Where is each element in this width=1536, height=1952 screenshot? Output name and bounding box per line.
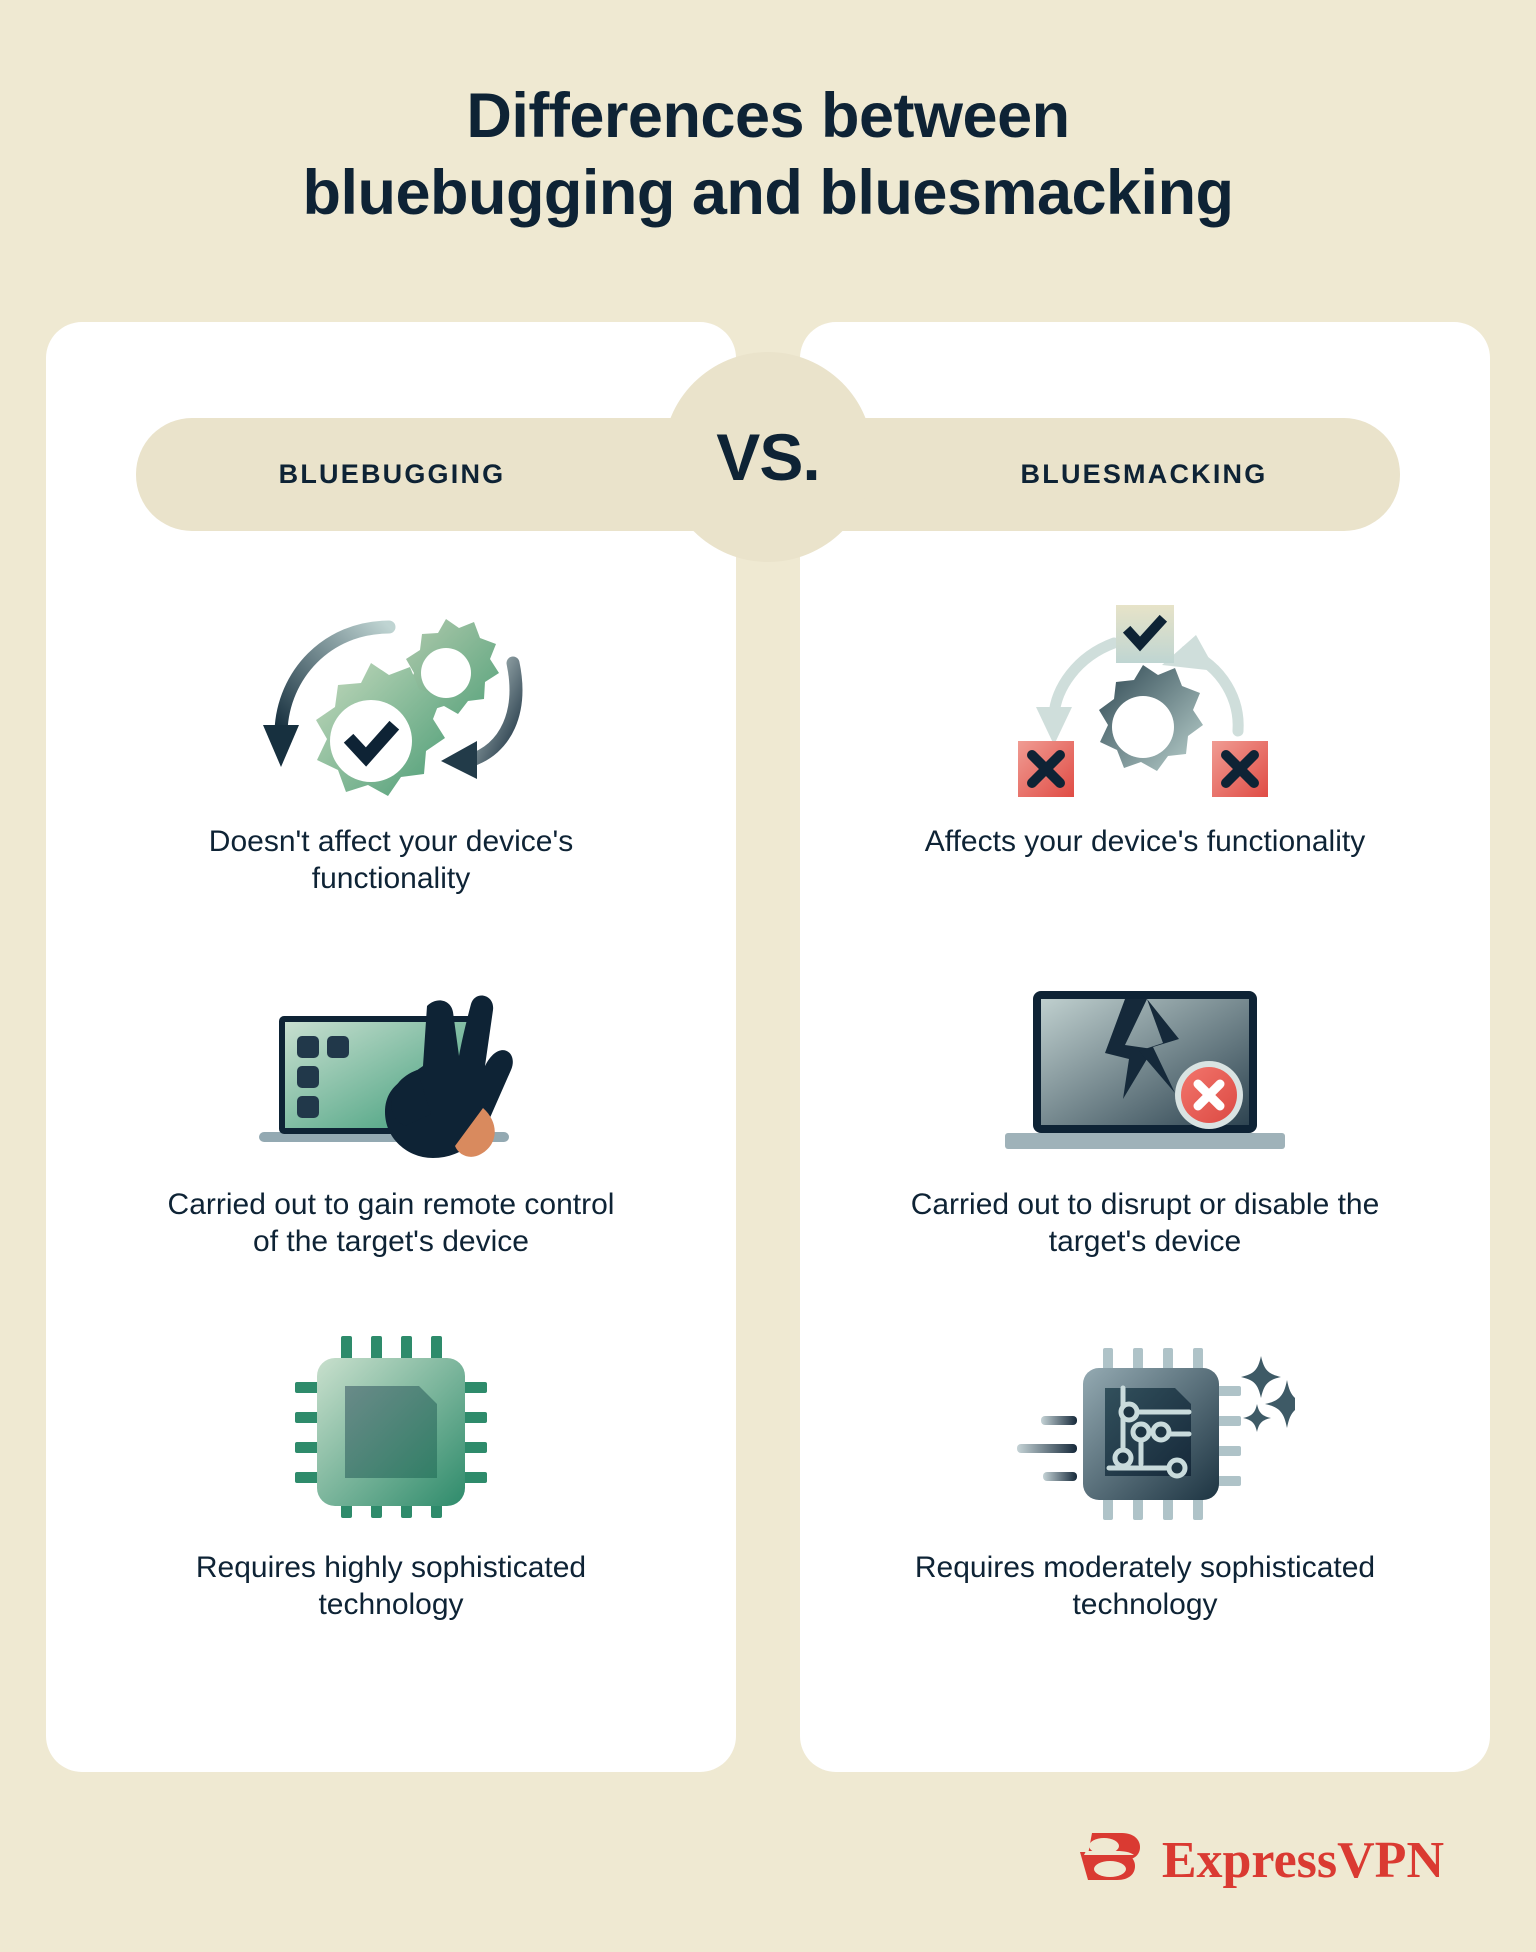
feature-caption: Requires moderately sophisticated techno… [910,1550,1380,1623]
feature-row: Carried out to disrupt or disable the ta… [800,945,1490,1308]
feature-caption: Requires highly sophisticated technology [156,1550,626,1623]
heading-label-bluesmacking: BLUESMACKING [1021,459,1268,490]
page-title: Differences between bluebugging and blue… [0,0,1536,232]
broken-laptop-error-icon [800,945,1490,1183]
vs-badge: VS. [663,352,873,562]
column-bluebugging: Doesn't affect your device's functionali… [46,582,736,1671]
feature-caption: Carried out to disrupt or disable the ta… [910,1187,1380,1260]
feature-row: Requires highly sophisticated technology [46,1308,736,1671]
gears-check-icon [46,582,736,820]
cpu-chip-green-icon [46,1308,736,1546]
laptop-hand-grab-icon [46,945,736,1183]
column-bluesmacking: Affects your device's functionality [800,582,1490,1671]
center-divider [759,472,777,1772]
heading-label-bluebugging: BLUEBUGGING [279,459,506,490]
feature-caption: Affects your device's functionality [925,824,1365,861]
feature-row: Requires moderately sophisticated techno… [800,1308,1490,1671]
brand-name: ExpressVPN [1162,1831,1444,1890]
feature-row: Carried out to gain remote control of th… [46,945,736,1308]
brand-footer: ExpressVPN [1078,1827,1444,1894]
feature-row: Affects your device's functionality [800,582,1490,945]
heading-pill-left: BLUEBUGGING [136,418,736,531]
heading-pill-right: BLUESMACKING [800,418,1400,531]
vs-label: VS. [716,419,819,495]
expressvpn-logo-icon [1078,1827,1144,1894]
feature-row: Doesn't affect your device's functionali… [46,582,736,945]
comparison-board: BLUEBUGGING BLUESMACKING VS. [46,322,1490,1772]
feature-caption: Doesn't affect your device's functionali… [156,824,626,897]
gear-cycle-error-icon [800,582,1490,820]
cpu-chip-circuit-icon [800,1308,1490,1546]
feature-caption: Carried out to gain remote control of th… [156,1187,626,1260]
